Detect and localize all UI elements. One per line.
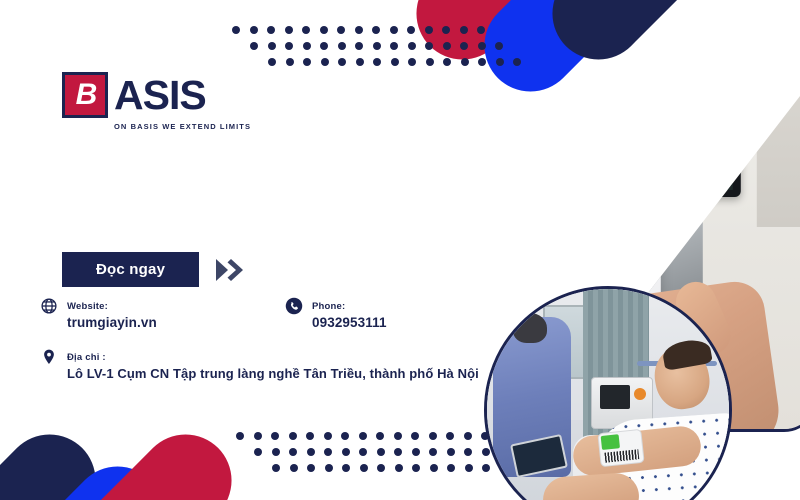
decor-dot-grid-top [232, 26, 521, 74]
logo-tagline: ON BASIS WE EXTEND LIMITS [114, 122, 262, 131]
double-chevron-right-icon [215, 257, 251, 283]
decor-dot-grid-bottom [236, 432, 525, 480]
headline-line-2: ƯU ĐIỂM NỔI BẬT CẦN BIẾT [52, 186, 482, 217]
logo-mark-letter: B [65, 75, 105, 115]
website-value[interactable]: trumgiayin.vn [67, 315, 157, 330]
map-pin-icon [40, 348, 58, 366]
brand-logo[interactable]: B ASIS ON BASIS WE EXTEND LIMITS [62, 72, 262, 131]
phone-icon [285, 297, 303, 315]
logo-wordmark: ASIS [114, 75, 206, 116]
logo-mark-icon: B [62, 72, 108, 118]
banner-canvas: B ASIS ON BASIS WE EXTEND LIMITS THẺ RFI… [0, 0, 800, 500]
headline-band: THẺ RFID HF HOẠT ĐỘNG RA SAO? ƯU ĐIỂM NỔ… [30, 136, 482, 236]
hospital-inset-photo [484, 286, 732, 500]
card-reader-slot [631, 201, 697, 211]
contact-block: Website: trumgiayin.vn Phone: 0932953111 [40, 296, 480, 383]
phone-label: Phone: [312, 301, 345, 312]
website-label: Website: [67, 301, 108, 312]
phone-value[interactable]: 0932953111 [312, 315, 387, 330]
address-value: Lô LV-1 Cụm CN Tập trung làng nghề Tân T… [67, 366, 479, 381]
face-scan-box-icon [613, 100, 691, 156]
facial-recognition-screen [563, 85, 741, 197]
cta-row: Đọc ngay [62, 252, 251, 287]
rfid-wristband [597, 429, 644, 467]
read-now-button[interactable]: Đọc ngay [62, 252, 199, 287]
contact-website[interactable]: Website: trumgiayin.vn [40, 296, 285, 332]
address-label: Địa chỉ : [67, 352, 106, 363]
globe-icon [40, 297, 58, 315]
headline-line-1: THẺ RFID HF HOẠT ĐỘNG RA SAO? [52, 155, 482, 186]
wall-panel [757, 78, 800, 227]
contact-address: Địa chỉ : Lô LV-1 Cụm CN Tập trung làng … [40, 347, 480, 383]
contact-phone[interactable]: Phone: 0932953111 [285, 296, 387, 332]
